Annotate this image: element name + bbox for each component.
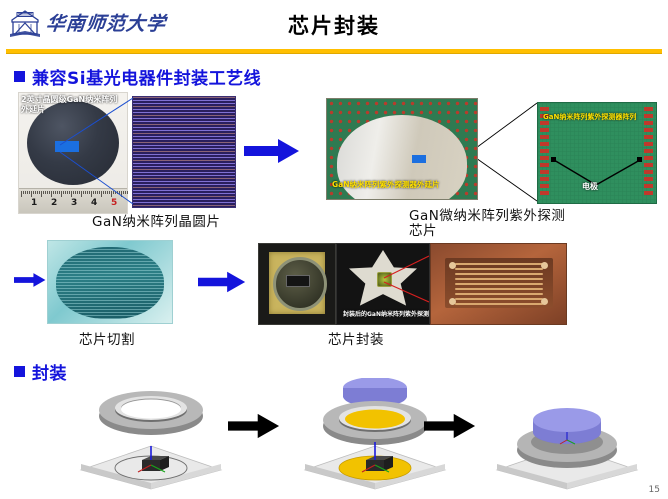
- page-title: 芯片封装: [0, 10, 668, 40]
- epi-overlay-label: GaN纳米阵列紫外探测器外延片: [332, 179, 440, 190]
- diced-wafer-photo: [47, 240, 173, 324]
- slide: 华南师范大学 芯片封装 兼容Si基光电器件封装工艺线 2英寸晶圆级GaN纳米阵列…: [0, 0, 668, 499]
- pcb-board: [445, 258, 553, 308]
- wafer-highlight-region: [55, 141, 79, 152]
- slide-header: 华南师范大学 芯片封装: [0, 0, 668, 50]
- section-title-text: 封装: [32, 359, 67, 384]
- packaged-device-photo: [258, 243, 336, 325]
- star-overlay-label: 封装后的GaN纳米阵列紫外探测器: [343, 309, 430, 318]
- blue-arrow-2: [14, 268, 46, 292]
- caption-dicing: 芯片切割: [79, 328, 135, 348]
- diced-wafer-disc: [56, 247, 164, 319]
- page-number: 15: [649, 485, 660, 495]
- blue-arrow-1: [244, 138, 300, 164]
- epi-highlight-region: [412, 155, 426, 163]
- electrode-label: 电极: [582, 181, 598, 192]
- section-title-text: 兼容Si基光电器件封装工艺线: [32, 64, 261, 89]
- caption-gan-wafer: GaN纳米阵列晶圆片: [92, 210, 220, 230]
- black-arrow-1: [228, 412, 280, 440]
- epi-wafer-photo: GaN纳米阵列紫外探测器外延片: [326, 98, 478, 200]
- wafer-photo: 2英寸晶圆级GaN纳米阵列外延片 12345: [18, 92, 128, 214]
- black-arrow-2: [424, 412, 476, 440]
- caption-gan-chip: GaN微纳米阵列紫外探测 芯片: [409, 209, 565, 239]
- blue-arrow-3: [198, 270, 246, 294]
- ruler-ticks: [19, 191, 127, 198]
- square-bullet-icon: [14, 71, 25, 82]
- callout-line: [476, 103, 537, 148]
- caption-gan-chip-line2: 芯片: [409, 224, 565, 239]
- flexible-pcb-photo: [430, 243, 567, 325]
- title-divider-shadow: [6, 53, 662, 54]
- assembly-step-3-final: [482, 388, 652, 494]
- assembly-step-1: [66, 386, 236, 494]
- detector-array-schematic: GaN纳米阵列紫外探测器阵列 电极: [537, 102, 657, 204]
- caption-gan-chip-line1: GaN微纳米阵列紫外探测: [409, 209, 565, 224]
- callout-line: [476, 158, 537, 201]
- caption-packaging: 芯片封装: [328, 328, 384, 348]
- wafer-overlay-label: 2英寸晶圆级GaN纳米阵列外延片: [21, 95, 121, 114]
- package-die: [286, 275, 310, 287]
- square-bullet-icon: [14, 366, 25, 377]
- section-heading-process-line: 兼容Si基光电器件封装工艺线: [14, 64, 261, 89]
- star-mcpcb-photo: 封装后的GaN纳米阵列紫外探测器: [336, 243, 430, 325]
- nanoarray-sem-zoom: [132, 96, 236, 208]
- section-heading-packaging: 封装: [14, 359, 67, 384]
